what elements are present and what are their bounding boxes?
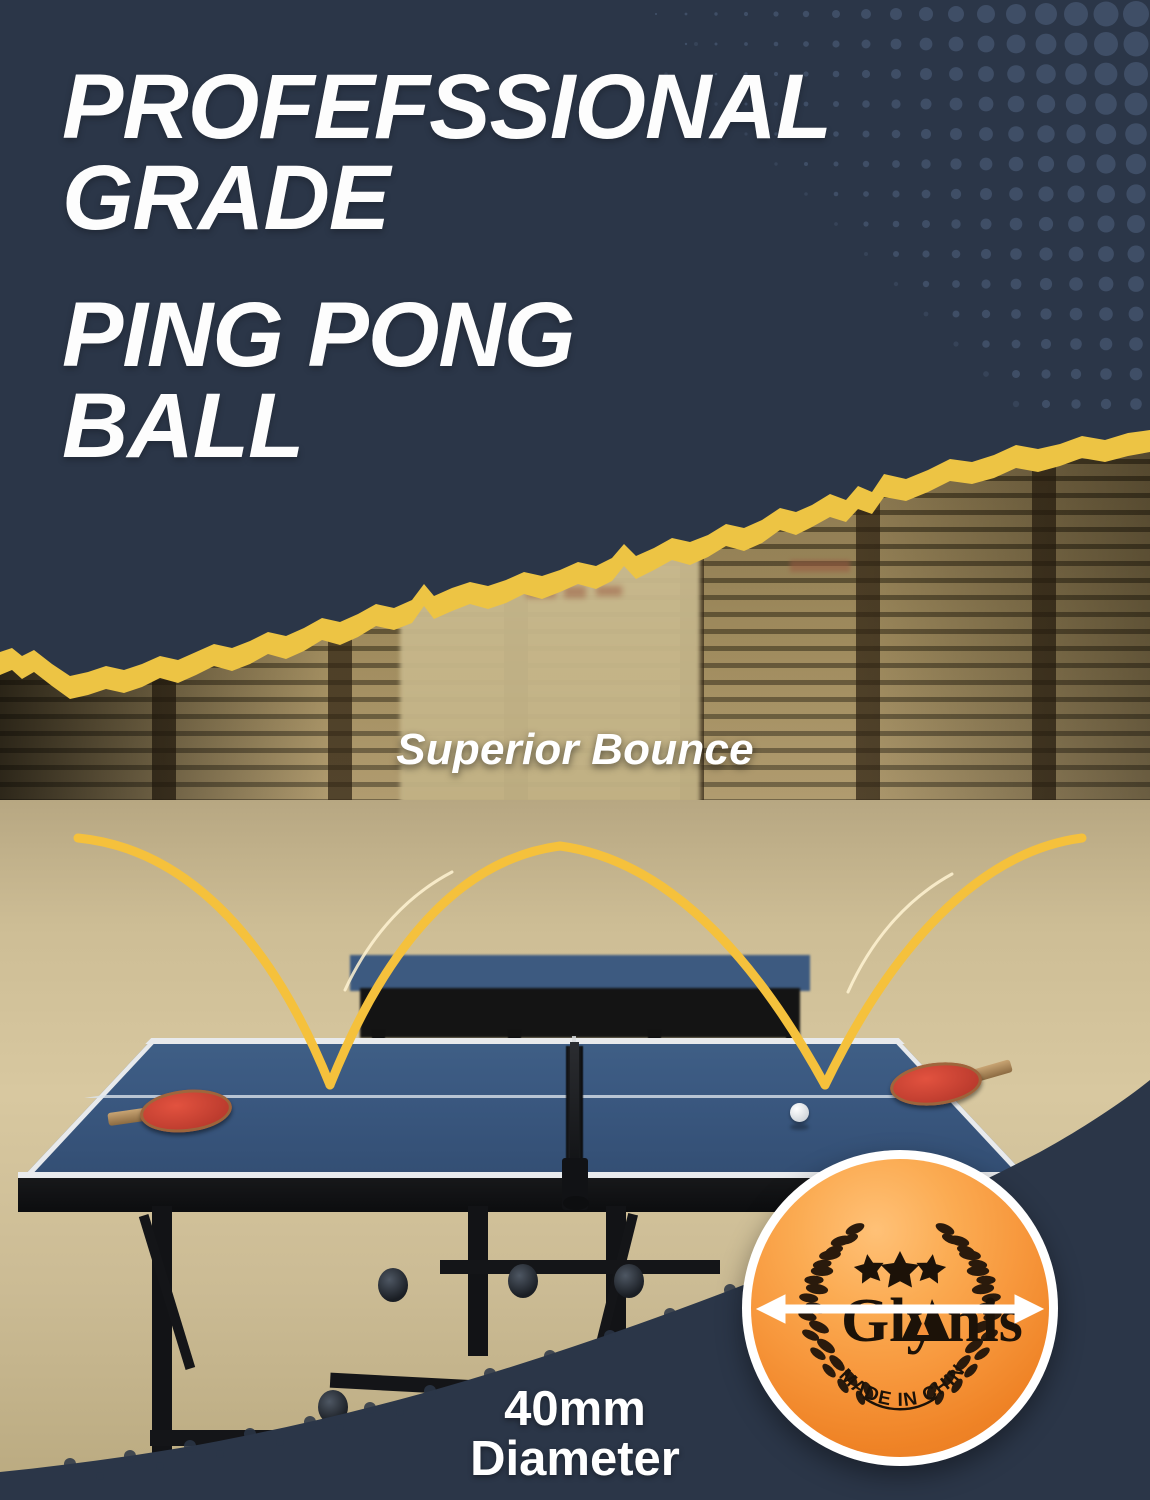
origin-label: MADE IN CHINA [751, 1159, 970, 1411]
product-poster: PROFEFSSIONAL GRADE PING PONG BALL Super… [0, 0, 1150, 1500]
brand-text-part-1: Gly [841, 1287, 937, 1355]
spec-callout: 40mm Diameter [420, 1385, 730, 1485]
spec-label: Diameter [420, 1435, 730, 1485]
headline: PROFEFSSIONAL GRADE PING PONG BALL [62, 62, 1122, 472]
svg-text:MADE IN CHINA: MADE IN CHINA [751, 1159, 970, 1411]
ball-logo-group: Gly nis MADE IN CHINA [751, 1159, 1049, 1457]
brand-text-part-2: nis [947, 1287, 1023, 1355]
headline-line-1: PROFEFSSIONAL [62, 62, 1122, 153]
headline-line-4: BALL [62, 381, 1122, 472]
product-ball: Gly nis MADE IN CHINA [742, 1150, 1058, 1466]
headline-line-3: PING PONG [62, 290, 1122, 381]
origin-text: MADE IN CHINA [751, 1159, 970, 1411]
headline-line-2: GRADE [62, 153, 1122, 244]
three-star-rating-icon [852, 1251, 947, 1288]
subheadline: Superior Bounce [0, 725, 1150, 775]
brand-wordmark: Gly nis [841, 1287, 1023, 1355]
spec-value: 40mm [420, 1385, 730, 1435]
